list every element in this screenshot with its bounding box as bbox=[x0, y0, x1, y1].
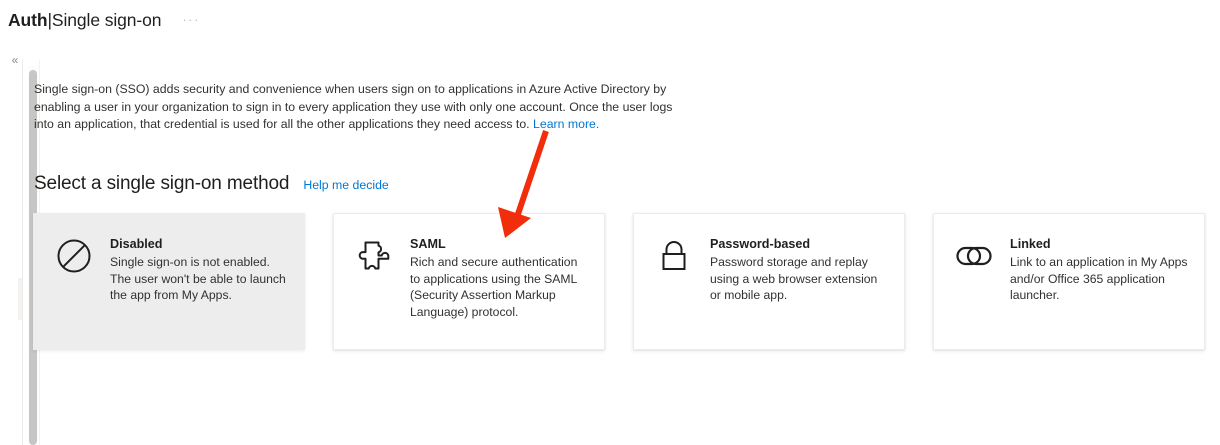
card-description: Link to an application in My Apps and/or… bbox=[1010, 254, 1190, 304]
puzzle-piece-icon bbox=[352, 234, 396, 278]
card-description: Rich and secure authentication to applic… bbox=[410, 254, 590, 320]
learn-more-link[interactable]: Learn more. bbox=[533, 117, 599, 131]
intro-paragraph: Single sign-on (SSO) adds security and c… bbox=[34, 81, 674, 134]
card-title: Password-based bbox=[710, 236, 890, 253]
rail-divider bbox=[22, 60, 23, 445]
section-header: Select a single sign-on method Help me d… bbox=[34, 173, 1220, 195]
sso-method-card-linked[interactable]: Linked Link to an application in My Apps… bbox=[933, 213, 1205, 350]
sso-method-card-saml[interactable]: SAML Rich and secure authentication to a… bbox=[333, 213, 605, 350]
card-title: SAML bbox=[410, 236, 590, 253]
page-title-section: Single sign-on bbox=[52, 10, 162, 30]
page-title-resource: Auth bbox=[8, 10, 47, 30]
padlock-icon bbox=[652, 234, 696, 278]
rail-marker bbox=[18, 278, 22, 320]
card-description: Password storage and replay using a web … bbox=[710, 254, 890, 304]
sso-configuration-page: Auth|Single sign-on ··· « Single sign-on… bbox=[0, 0, 1220, 445]
content-area: Single sign-on (SSO) adds security and c… bbox=[34, 60, 1220, 195]
more-options-icon[interactable]: ··· bbox=[179, 11, 203, 29]
card-text: Linked Link to an application in My Apps… bbox=[1010, 232, 1190, 304]
help-me-decide-link[interactable]: Help me decide bbox=[303, 178, 388, 192]
no-entry-icon bbox=[52, 234, 96, 278]
card-title: Disabled bbox=[110, 236, 290, 253]
page-title: Auth|Single sign-on bbox=[8, 9, 161, 31]
page-header: Auth|Single sign-on ··· bbox=[0, 0, 1220, 40]
chain-link-icon bbox=[952, 234, 996, 278]
sso-method-card-disabled[interactable]: Disabled Single sign-on is not enabled. … bbox=[33, 213, 305, 350]
card-text: Disabled Single sign-on is not enabled. … bbox=[110, 232, 290, 304]
section-title: Select a single sign-on method bbox=[34, 173, 289, 195]
sso-method-card-password-based[interactable]: Password-based Password storage and repl… bbox=[633, 213, 905, 350]
sso-method-cards: Disabled Single sign-on is not enabled. … bbox=[33, 213, 1213, 350]
card-text: SAML Rich and secure authentication to a… bbox=[410, 232, 590, 320]
card-description: Single sign-on is not enabled. The user … bbox=[110, 254, 290, 304]
card-title: Linked bbox=[1010, 236, 1190, 253]
card-text: Password-based Password storage and repl… bbox=[710, 232, 890, 304]
